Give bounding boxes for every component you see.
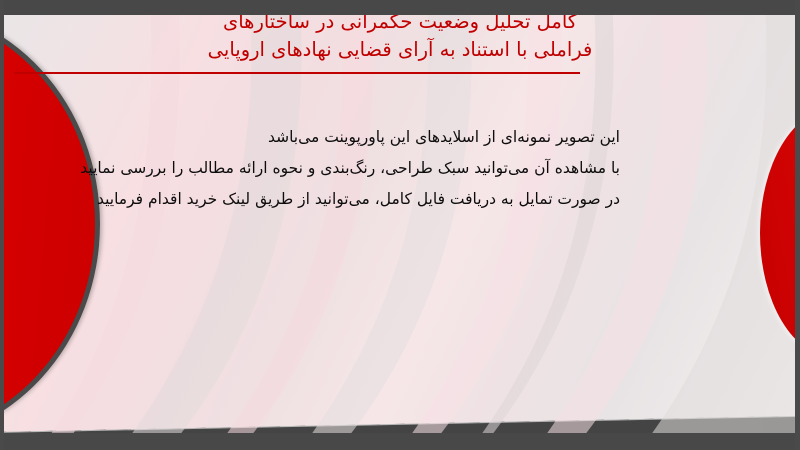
frame-band-top (0, 0, 800, 15)
body-line-3: در صورت تمایل به دریافت فایل کامل، می‌تو… (150, 184, 620, 215)
title-line-2: فراملی با استناد به آرای قضایی نهادهای ا… (110, 36, 690, 64)
presentation-slide: کامل تحلیل وضعیت حکمرانی در ساختارهای فر… (0, 0, 800, 450)
body-line-2: با مشاهده آن می‌توانید سبک طراحی، رنگ‌بن… (150, 153, 620, 184)
slide-canvas: کامل تحلیل وضعیت حکمرانی در ساختارهای فر… (0, 0, 800, 450)
slide-body-text: این تصویر نمونه‌ای از اسلایدهای این پاور… (150, 122, 620, 215)
slide-background-page (0, 0, 800, 432)
slide-title: کامل تحلیل وضعیت حکمرانی در ساختارهای فر… (110, 8, 690, 64)
body-line-1: این تصویر نمونه‌ای از اسلایدهای این پاور… (150, 122, 620, 153)
frame-edge-left (0, 0, 4, 450)
frame-band-bottom (0, 433, 800, 450)
title-underline (14, 72, 580, 74)
frame-edge-right (795, 0, 800, 450)
